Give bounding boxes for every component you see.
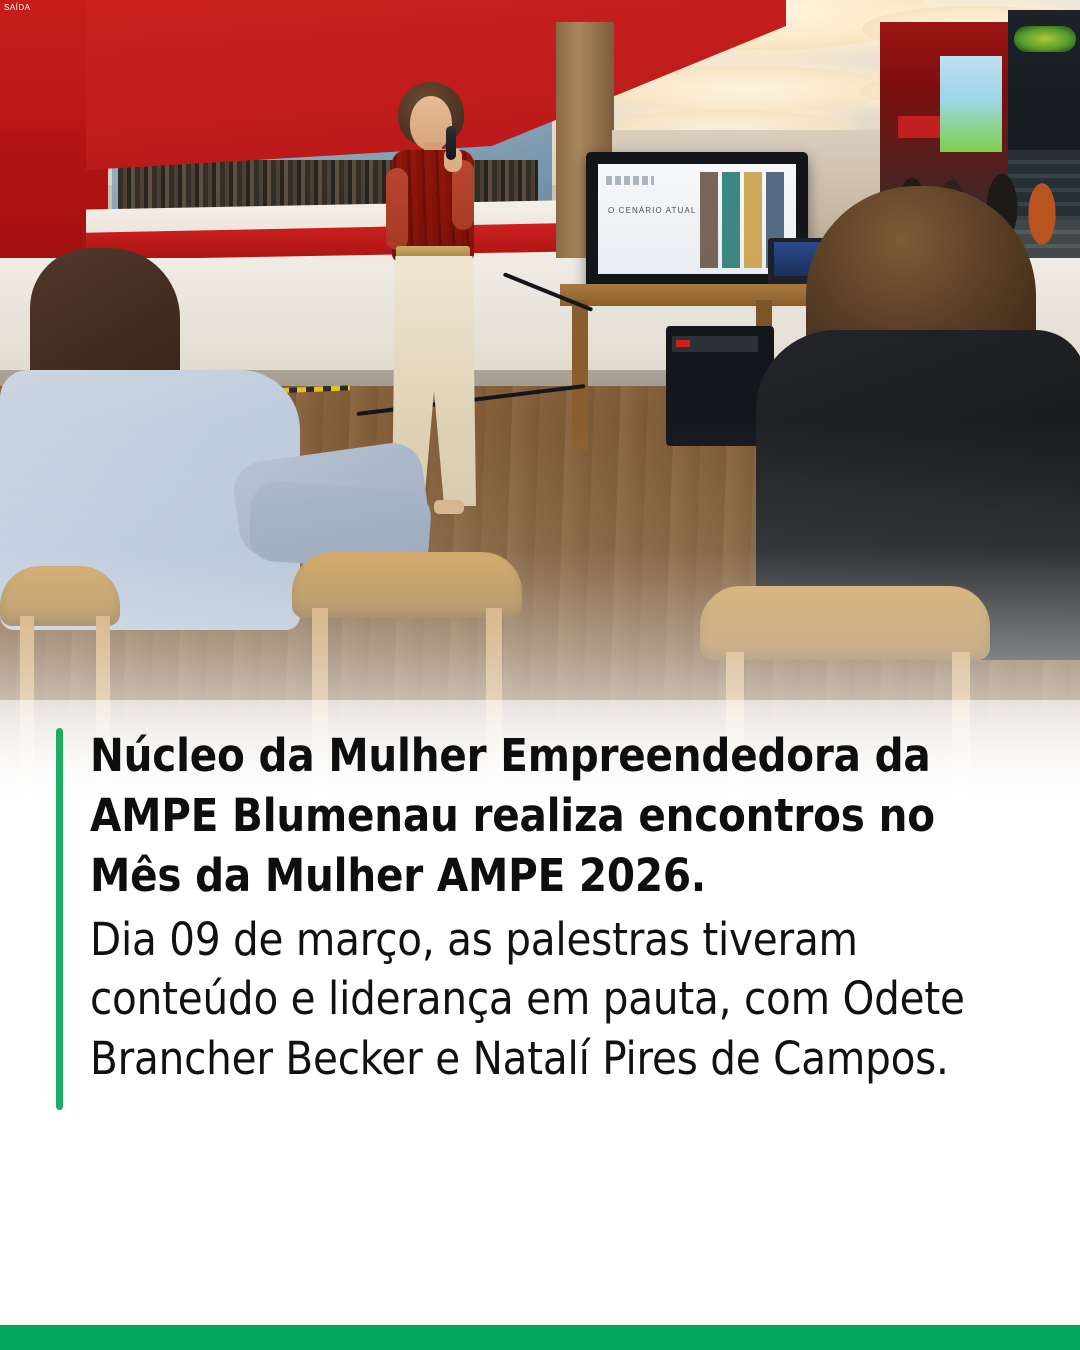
headline-line: Núcleo da Mulher Empreendedora da — [90, 726, 1020, 786]
subcopy-line: Brancher Becker e Natalí Pires de Campos… — [90, 1029, 1020, 1089]
amplifier-led — [676, 340, 690, 347]
page-title: Núcleo da Mulher Empreendedora da AMPE B… — [90, 726, 1020, 906]
bottom-green-bar — [0, 1325, 1080, 1350]
poster-root: O CENÁRIO ATUAL — [0, 0, 1080, 1350]
page-subtitle: Dia 09 de março, as palestras tiveram co… — [90, 910, 1020, 1090]
subcopy-line: Dia 09 de março, as palestras tiveram — [90, 910, 1020, 970]
workcell-logo-icon — [1014, 26, 1076, 52]
footer: AMPE BLUMENAU MULHER EMPREENDEDORA — [0, 1170, 1080, 1325]
subcopy-line: conteúdo e liderança em pauta, com Odete — [90, 969, 1020, 1029]
presenter-arm — [386, 168, 408, 250]
green-accent-bar — [56, 728, 63, 1110]
storefront-banner — [940, 56, 1002, 152]
slide-title: O CENÁRIO ATUAL — [608, 206, 696, 215]
headline-line: Mês da Mulher AMPE 2026. — [90, 846, 1020, 906]
headline-line: AMPE Blumenau realiza encontros no — [90, 786, 1020, 846]
copy-block: Núcleo da Mulher Empreendedora da AMPE B… — [90, 726, 1020, 1089]
slide-header-mark — [606, 176, 654, 185]
event-photo: O CENÁRIO ATUAL — [0, 0, 1080, 840]
microphone — [446, 126, 456, 160]
